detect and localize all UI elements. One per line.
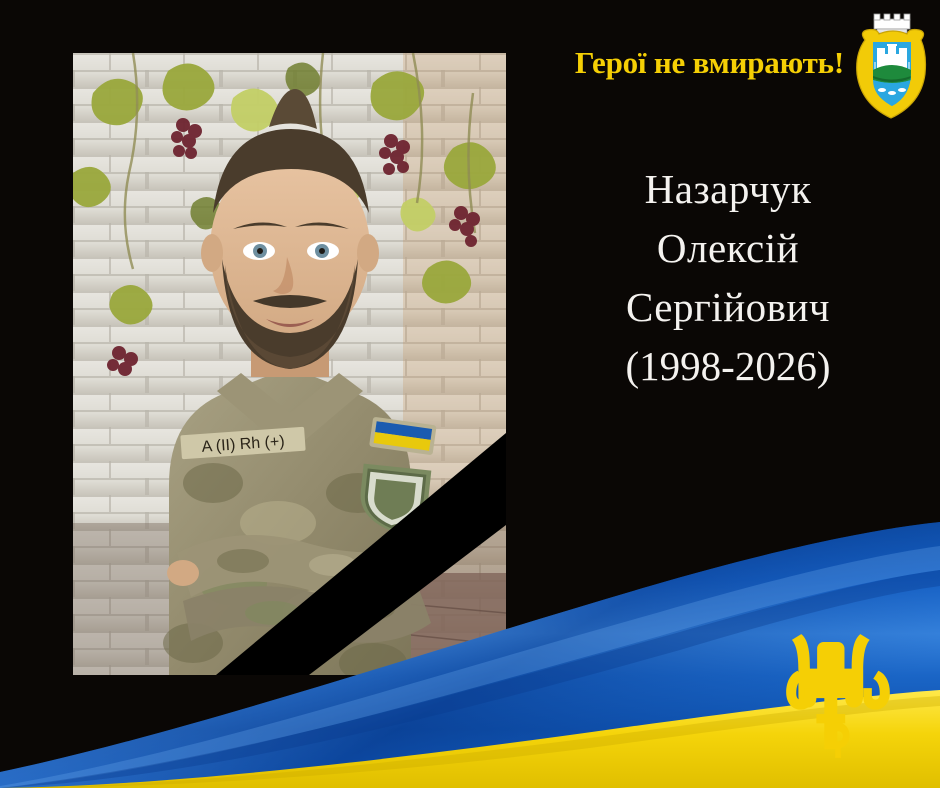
life-years: (1998-2026) bbox=[516, 337, 940, 396]
patronymic: Сергійович bbox=[516, 278, 940, 337]
flag-yellow-band bbox=[0, 690, 940, 788]
coat-of-arms-icon bbox=[851, 10, 933, 122]
portrait-photo-graphic: A (II) Rh (+) bbox=[73, 53, 506, 675]
portrait-photo: A (II) Rh (+) bbox=[73, 53, 506, 675]
flag-yellow-shadow bbox=[0, 696, 940, 788]
slogan-text: Герої не вмирають! bbox=[524, 47, 844, 78]
trident-emblem bbox=[786, 634, 890, 758]
coat-of-arms-graphic bbox=[851, 10, 933, 122]
given-name: Олексій bbox=[516, 219, 940, 278]
surname: Назарчук bbox=[516, 160, 940, 219]
memorial-name-block: Назарчук Олексій Сергійович (1998-2026) bbox=[516, 160, 940, 396]
memorial-poster: A (II) Rh (+) bbox=[0, 0, 940, 788]
mural-crown bbox=[874, 14, 910, 33]
